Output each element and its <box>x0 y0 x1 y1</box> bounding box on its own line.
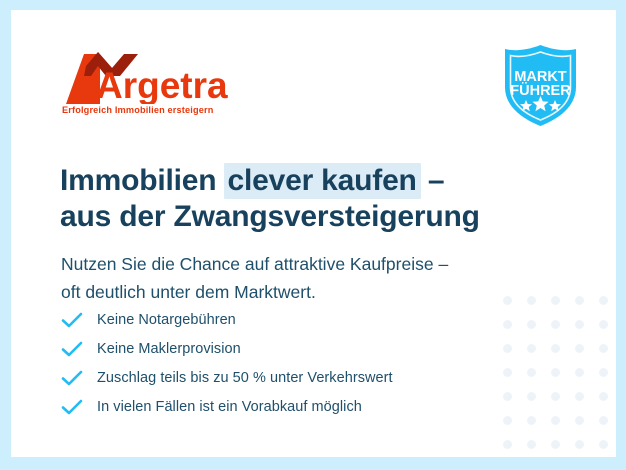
dot <box>599 296 608 305</box>
dot <box>575 320 584 329</box>
dot <box>575 416 584 425</box>
dot <box>527 392 536 401</box>
dot <box>599 440 608 449</box>
dot <box>575 368 584 377</box>
ad-card: Argetra Erfolgreich Immobilien ersteiger… <box>11 10 616 457</box>
headline-line-2: aus der Zwangsversteigerung <box>60 200 480 233</box>
headline-part-after: – <box>420 164 445 197</box>
dot <box>527 368 536 377</box>
dot <box>551 368 560 377</box>
dot <box>599 392 608 401</box>
dot <box>527 296 536 305</box>
subheadline-line-1: Nutzen Sie die Chance auf attraktive Kau… <box>61 254 448 274</box>
dot <box>599 344 608 353</box>
dot <box>503 344 512 353</box>
dot <box>551 296 560 305</box>
badge-line-2: FÜHRER <box>510 82 571 99</box>
ad-banner-frame: Argetra Erfolgreich Immobilien ersteiger… <box>0 0 626 470</box>
dot <box>551 392 560 401</box>
dot <box>503 368 512 377</box>
check-icon <box>61 312 83 328</box>
dot <box>503 320 512 329</box>
dot <box>503 296 512 305</box>
page-title: Immobilien clever kaufen – aus der Zwang… <box>60 163 480 235</box>
logo-wordmark: Argetra <box>96 65 228 104</box>
headline-line-1: Immobilien clever kaufen – <box>60 164 444 197</box>
dot <box>503 392 512 401</box>
dot <box>551 440 560 449</box>
shield-badge-icon: MARKT FÜHRER <box>498 43 583 128</box>
decorative-dot-grid <box>495 288 615 456</box>
market-leader-badge: MARKT FÜHRER <box>498 43 583 128</box>
benefits-list: Keine Notargebühren Keine Maklerprovisio… <box>61 305 393 421</box>
dot <box>599 368 608 377</box>
dot <box>527 344 536 353</box>
dot <box>551 344 560 353</box>
dot <box>503 416 512 425</box>
list-item-label: Keine Maklerprovision <box>97 341 241 357</box>
list-item: Keine Maklerprovision <box>61 334 393 363</box>
dot <box>575 344 584 353</box>
dot <box>527 416 536 425</box>
dot <box>551 416 560 425</box>
logo-tagline: Erfolgreich Immobilien ersteigern <box>62 105 265 115</box>
dot <box>527 320 536 329</box>
dot <box>527 440 536 449</box>
list-item: Zuschlag teils bis zu 50 % unter Verkehr… <box>61 363 393 392</box>
list-item-label: Keine Notargebühren <box>97 312 236 328</box>
list-item: Keine Notargebühren <box>61 305 393 334</box>
check-icon <box>61 399 83 415</box>
list-item-label: In vielen Fällen ist ein Vorabkauf mögli… <box>97 399 362 415</box>
dot <box>575 440 584 449</box>
dot <box>575 392 584 401</box>
dot <box>503 440 512 449</box>
list-item-label: Zuschlag teils bis zu 50 % unter Verkehr… <box>97 370 393 386</box>
logo-mark-row: Argetra <box>60 52 265 104</box>
check-icon <box>61 370 83 386</box>
headline-highlight: clever kaufen <box>224 163 421 199</box>
check-icon <box>61 341 83 357</box>
dot <box>575 296 584 305</box>
list-item: In vielen Fällen ist ein Vorabkauf mögli… <box>61 392 393 421</box>
dot <box>599 320 608 329</box>
subheadline: Nutzen Sie die Chance auf attraktive Kau… <box>61 250 448 306</box>
dot <box>599 416 608 425</box>
subheadline-line-2: oft deutlich unter dem Marktwert. <box>61 282 316 302</box>
brand-logo[interactable]: Argetra Erfolgreich Immobilien ersteiger… <box>60 52 265 115</box>
headline-part-before: Immobilien <box>60 164 225 197</box>
dot <box>551 320 560 329</box>
argetra-logo-icon: Argetra <box>60 52 265 104</box>
